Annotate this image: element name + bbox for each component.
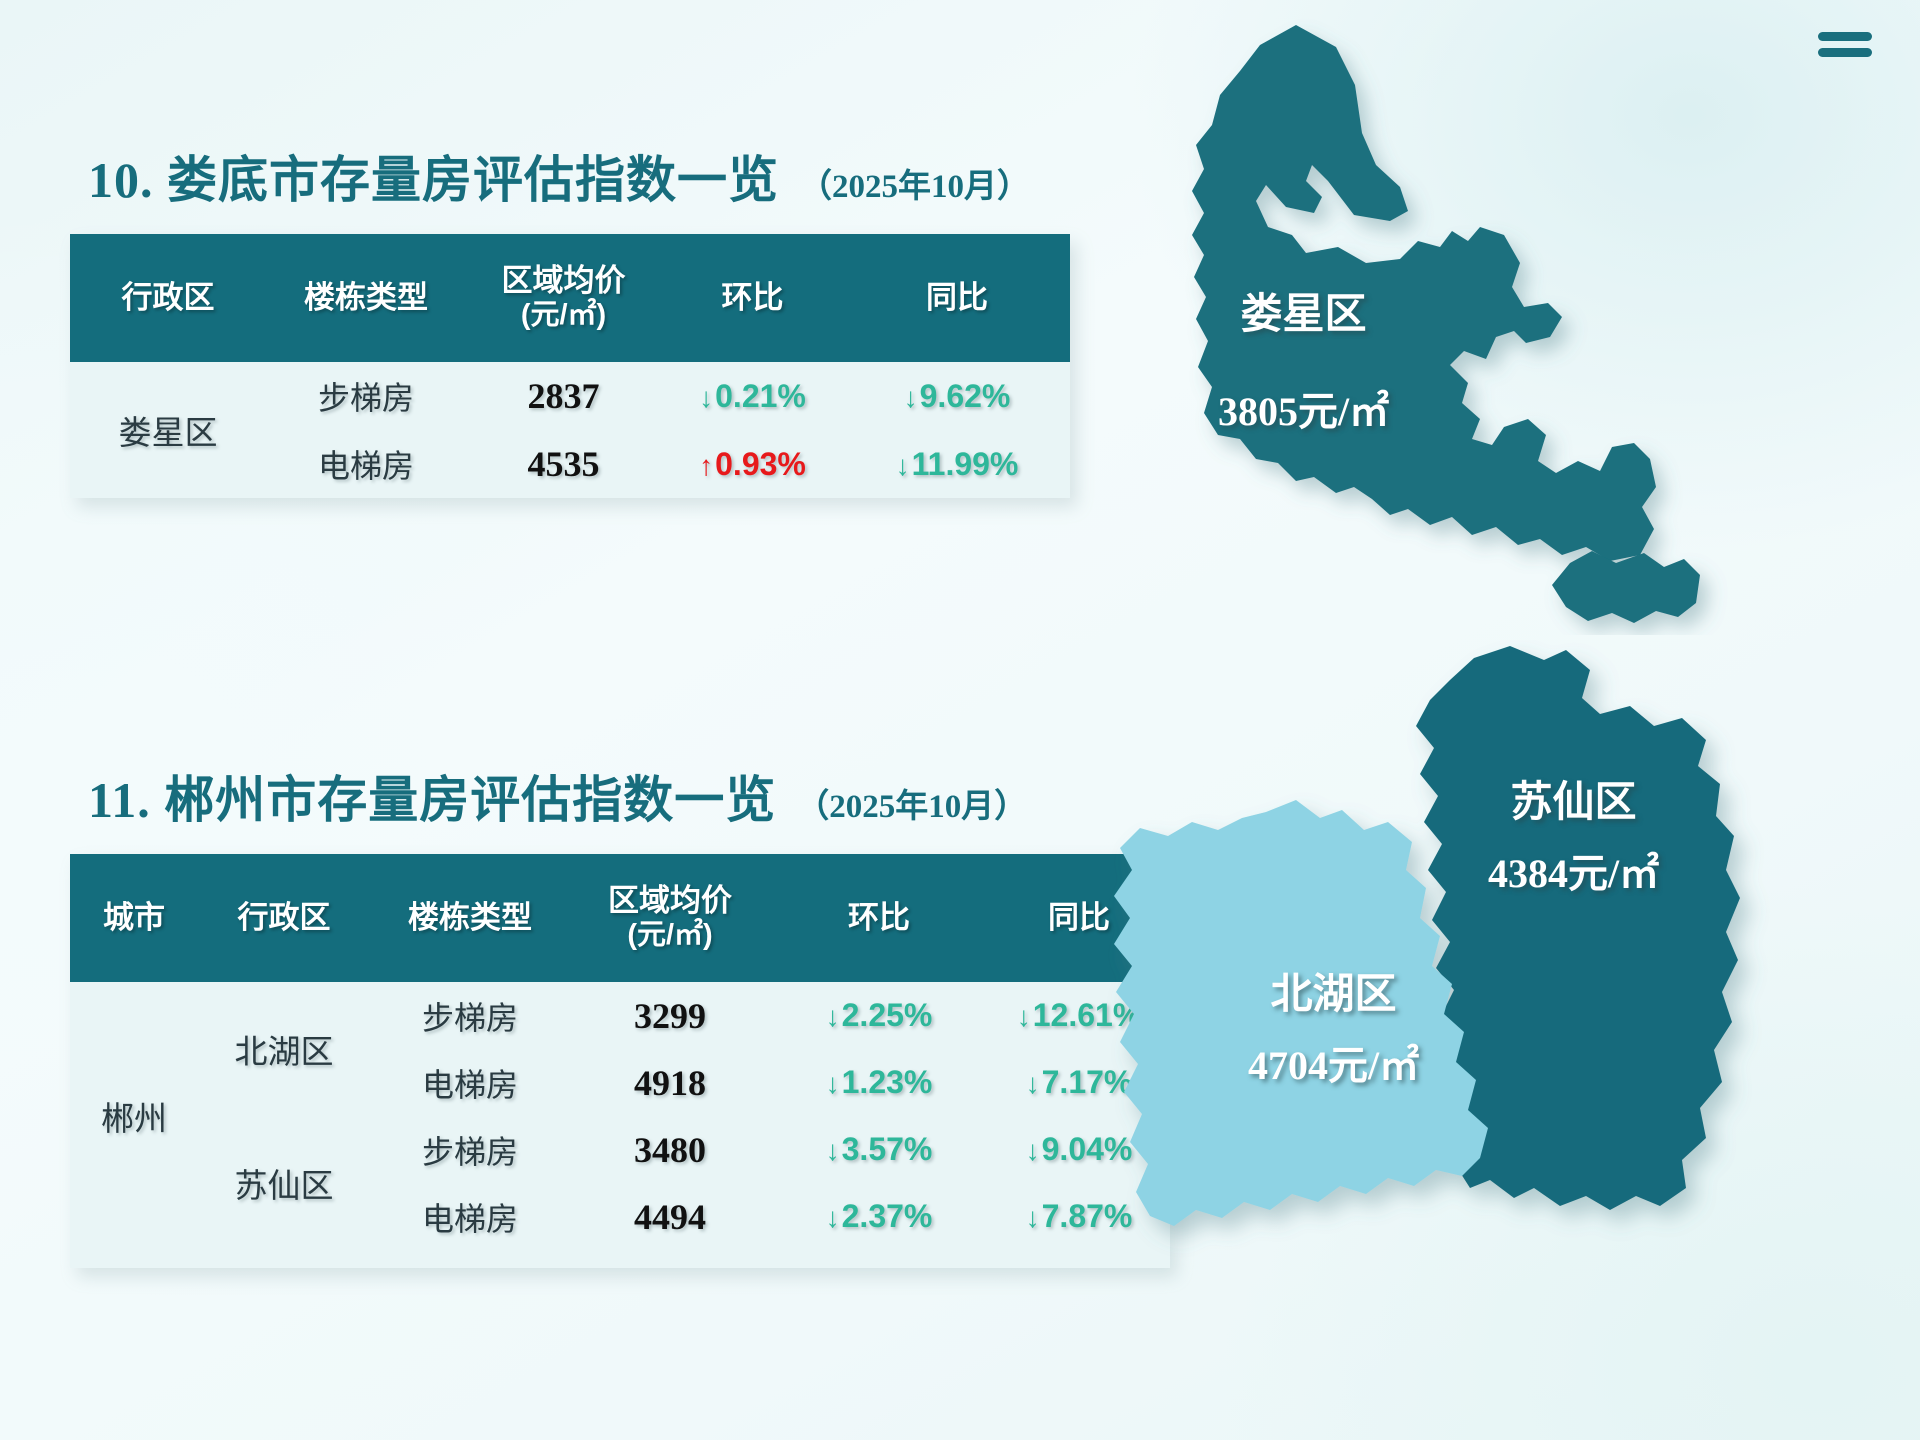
cell-yoy-value: 9.62% (920, 378, 1011, 414)
header-row: 城市 行政区 楼栋类型 区域均价 (元/㎡) 环比 同比 (70, 854, 1170, 982)
louxing-southeast-lobe-shape (1552, 551, 1700, 623)
arrow-down-icon: ↓ (699, 382, 713, 413)
th-avg-price-label: 区域均价 (608, 883, 732, 918)
map-district-name: 北湖区 (1248, 960, 1419, 1021)
map-label-louxing: 娄星区 3805元/㎡ (1218, 280, 1389, 437)
cell-building-type: 电梯房 (370, 1049, 570, 1116)
th-yoy: 同比 (844, 234, 1070, 362)
slide-canvas: 10. 娄底市存量房评估指数一览 （2025年10月） 行政区 楼栋类型 区域均… (0, 0, 1920, 1440)
table-loudi: 行政区 楼栋类型 区域均价 (元/㎡) 环比 同比 娄星区 步梯房 (70, 234, 1070, 498)
cell-yoy: ↓9.62% (844, 362, 1070, 430)
cell-mom: ↑0.93% (661, 430, 844, 498)
cell-avg-price: 3480 (570, 1116, 770, 1183)
cell-yoy: ↓11.99% (844, 430, 1070, 498)
cell-mom: ↓2.37% (770, 1183, 988, 1259)
map-panel: 娄星区 3805元/㎡ 苏仙区 4384元/㎡ 北湖区 4704元/㎡ (1100, 0, 1920, 1440)
section-title-chenzhou: 11. 郴州市存量房评估指数一览 （2025年10月） (88, 760, 1170, 832)
th-avg-price: 区域均价 (元/㎡) (466, 234, 661, 362)
cell-district: 北湖区 (198, 982, 370, 1116)
table-body: 郴州 北湖区 步梯房 3299 ↓2.25% ↓12.61% 电梯房 4918 … (70, 982, 1170, 1259)
cell-mom: ↓2.25% (770, 982, 988, 1049)
arrow-down-icon: ↓ (826, 1202, 840, 1233)
th-city: 城市 (70, 854, 198, 982)
cell-mom: ↓0.21% (661, 362, 844, 430)
cell-mom-value: 0.21% (715, 378, 806, 414)
th-building-type: 楼栋类型 (370, 854, 570, 982)
cell-building-type: 电梯房 (266, 430, 466, 498)
cell-avg-price: 4535 (466, 430, 661, 498)
cell-district: 苏仙区 (198, 1116, 370, 1259)
arrow-down-icon: ↓ (1017, 1001, 1031, 1032)
arrow-down-icon: ↓ (904, 382, 918, 413)
cell-avg-price: 2837 (466, 362, 661, 430)
table-wrapper-loudi: 行政区 楼栋类型 区域均价 (元/㎡) 环比 同比 娄星区 步梯房 (70, 234, 1070, 498)
th-building-type: 楼栋类型 (266, 234, 466, 362)
cell-district: 娄星区 (70, 362, 266, 498)
cell-avg-price: 3299 (570, 982, 770, 1049)
arrow-down-icon: ↓ (826, 1001, 840, 1032)
section-chenzhou: 11. 郴州市存量房评估指数一览 （2025年10月） 城市 行政区 楼栋类型 … (70, 760, 1170, 1268)
cell-mom-value: 2.25% (842, 997, 933, 1033)
cell-city: 郴州 (70, 982, 198, 1259)
arrow-down-icon: ↓ (896, 450, 910, 481)
cell-mom-value: 3.57% (842, 1131, 933, 1167)
th-avg-price-label: 区域均价 (502, 263, 626, 298)
cell-mom-value: 0.93% (715, 446, 806, 482)
section-title-text: 11. 郴州市存量房评估指数一览 (88, 760, 776, 832)
cell-yoy-value: 11.99% (912, 446, 1019, 482)
cell-building-type: 步梯房 (370, 1116, 570, 1183)
cell-building-type: 步梯房 (370, 982, 570, 1049)
cell-avg-price: 4494 (570, 1183, 770, 1259)
cell-mom-value: 2.37% (842, 1198, 933, 1234)
th-avg-price-unit: (元/㎡) (466, 299, 661, 331)
table-head: 行政区 楼栋类型 区域均价 (元/㎡) 环比 同比 (70, 234, 1070, 362)
table-row: 娄星区 步梯房 2837 ↓0.21% ↓9.62% (70, 362, 1070, 430)
table-head: 城市 行政区 楼栋类型 区域均价 (元/㎡) 环比 同比 (70, 854, 1170, 982)
th-avg-price: 区域均价 (元/㎡) (570, 854, 770, 982)
map-label-beihu: 北湖区 4704元/㎡ (1248, 960, 1419, 1091)
th-district: 行政区 (70, 234, 266, 362)
map-district-price: 4384元/㎡ (1488, 841, 1659, 899)
table-row: 苏仙区 步梯房 3480 ↓3.57% ↓9.04% (70, 1116, 1170, 1183)
cell-mom: ↓1.23% (770, 1049, 988, 1116)
map-district-price: 3805元/㎡ (1218, 379, 1389, 437)
th-mom: 环比 (661, 234, 844, 362)
th-district: 行政区 (198, 854, 370, 982)
map-label-suxian: 苏仙区 4384元/㎡ (1488, 768, 1659, 899)
map-district-name: 苏仙区 (1488, 768, 1659, 829)
arrow-down-icon: ↓ (826, 1135, 840, 1166)
map-district-name: 娄星区 (1218, 280, 1389, 341)
arrow-down-icon: ↓ (826, 1068, 840, 1099)
cell-avg-price: 4918 (570, 1049, 770, 1116)
map-district-price: 4704元/㎡ (1248, 1033, 1419, 1091)
section-title-loudi: 10. 娄底市存量房评估指数一览 （2025年10月） (88, 140, 1070, 212)
section-title-text: 10. 娄底市存量房评估指数一览 (88, 140, 779, 212)
table-chenzhou: 城市 行政区 楼栋类型 区域均价 (元/㎡) 环比 同比 郴州 北湖 (70, 854, 1170, 1268)
th-mom: 环比 (770, 854, 988, 982)
arrow-down-icon: ↓ (1026, 1202, 1040, 1233)
section-loudi: 10. 娄底市存量房评估指数一览 （2025年10月） 行政区 楼栋类型 区域均… (70, 140, 1070, 498)
table-wrapper-chenzhou: 城市 行政区 楼栋类型 区域均价 (元/㎡) 环比 同比 郴州 北湖 (70, 854, 1170, 1268)
arrow-down-icon: ↓ (1026, 1135, 1040, 1166)
cell-mom: ↓3.57% (770, 1116, 988, 1183)
arrow-up-icon: ↑ (699, 450, 713, 481)
table-body: 娄星区 步梯房 2837 ↓0.21% ↓9.62% 电梯房 4535 ↑0.9… (70, 362, 1070, 498)
section-title-date: （2025年10月） (799, 159, 1030, 207)
section-title-date: （2025年10月） (796, 779, 1027, 827)
header-row: 行政区 楼栋类型 区域均价 (元/㎡) 环比 同比 (70, 234, 1070, 362)
chenzhou-map (1070, 640, 1890, 1340)
th-avg-price-unit: (元/㎡) (570, 919, 770, 951)
arrow-down-icon: ↓ (1026, 1068, 1040, 1099)
cell-building-type: 步梯房 (266, 362, 466, 430)
cell-mom-value: 1.23% (842, 1064, 933, 1100)
table-row: 郴州 北湖区 步梯房 3299 ↓2.25% ↓12.61% (70, 982, 1170, 1049)
cell-building-type: 电梯房 (370, 1183, 570, 1259)
